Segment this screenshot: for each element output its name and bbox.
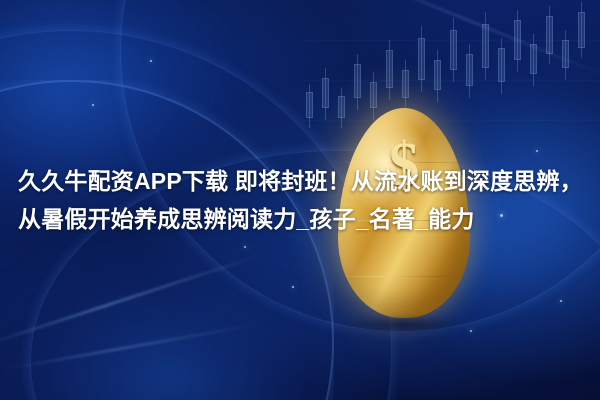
sparkle-dot [536, 150, 538, 152]
candle-body [450, 30, 457, 70]
candle-body [530, 44, 537, 74]
sparkle-dot [470, 330, 472, 332]
sparkle-dot [92, 104, 94, 106]
sparkle-dot [560, 300, 562, 302]
candle-body [578, 12, 585, 48]
sparkle-dot [292, 286, 294, 288]
article-cover-image: $ 久久牛配资APP下载 即将封班！从流水账到深度思辨，从暑假开始养成思辨阅读力… [0, 0, 600, 400]
candle-body [546, 16, 553, 54]
sparkle-dot [150, 60, 152, 62]
candle-body [514, 20, 521, 60]
candle-body [482, 24, 489, 68]
sparkle-dot [244, 246, 246, 248]
coin-shadow [344, 316, 464, 334]
candle-body [562, 40, 569, 68]
headline-text: 久久牛配资APP下载 即将封班！从流水账到深度思辨，从暑假开始养成思辨阅读力_孩… [18, 162, 586, 238]
